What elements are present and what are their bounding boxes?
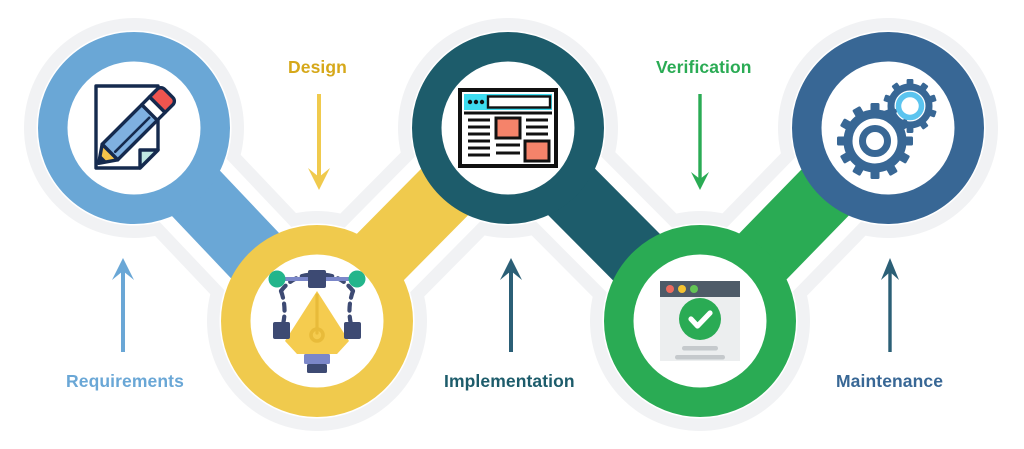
checkmark-window-icon — [660, 281, 740, 361]
arrow-implementation-up — [500, 258, 522, 352]
arrow-requirements-up — [112, 258, 134, 352]
stage-label-verification[interactable]: Verification — [656, 57, 752, 78]
sdlc-diagram-canvas: Requirements Design Implementation Verif… — [0, 0, 1024, 449]
stage-label-maintenance[interactable]: Maintenance — [836, 371, 943, 392]
arrow-verification-down — [691, 94, 709, 190]
arrow-maintenance-up — [881, 258, 899, 352]
stage-label-design[interactable]: Design — [288, 57, 347, 78]
arrow-design-down — [308, 94, 330, 190]
browser-window-icon — [460, 90, 556, 166]
disc-maintenance — [822, 62, 955, 195]
stage-label-implementation[interactable]: Implementation — [444, 371, 575, 392]
stage-label-requirements[interactable]: Requirements — [66, 371, 184, 392]
